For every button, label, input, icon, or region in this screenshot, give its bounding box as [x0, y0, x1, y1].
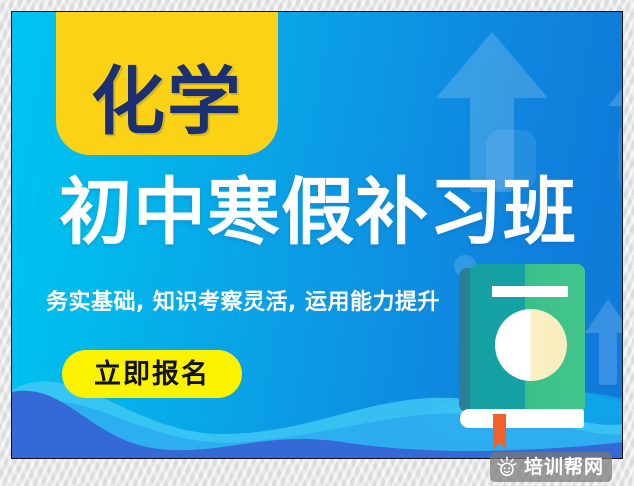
book-pages	[460, 409, 584, 428]
enroll-now-button-label: 立即报名	[94, 361, 210, 388]
book-cover	[470, 264, 585, 414]
banner-frame: 化学 初中寒假补习班 务实基础, 知识考察灵活, 运用能力提升 立即报名	[11, 11, 623, 459]
subject-badge: 化学	[56, 12, 278, 155]
enroll-now-button[interactable]: 立即报名	[62, 350, 242, 398]
site-watermark-label: 培训帮网	[524, 458, 604, 477]
book-title-bar	[492, 286, 568, 297]
book-emblem-circle	[495, 309, 567, 381]
banner-headline: 初中寒假补习班	[28, 175, 608, 252]
book-illustration	[459, 264, 585, 434]
sun-smiley-icon	[496, 456, 518, 478]
decorative-rect-1	[618, 122, 622, 190]
page-canvas: 化学 初中寒假补习班 务实基础, 知识考察灵活, 运用能力提升 立即报名	[0, 0, 634, 486]
subject-badge-label: 化学	[91, 65, 243, 139]
banner-subtitle: 务实基础, 知识考察灵活, 运用能力提升	[28, 284, 458, 316]
course-promo-banner: 化学 初中寒假补习班 务实基础, 知识考察灵活, 运用能力提升 立即报名	[12, 12, 622, 458]
site-watermark: 培训帮网	[490, 452, 612, 482]
